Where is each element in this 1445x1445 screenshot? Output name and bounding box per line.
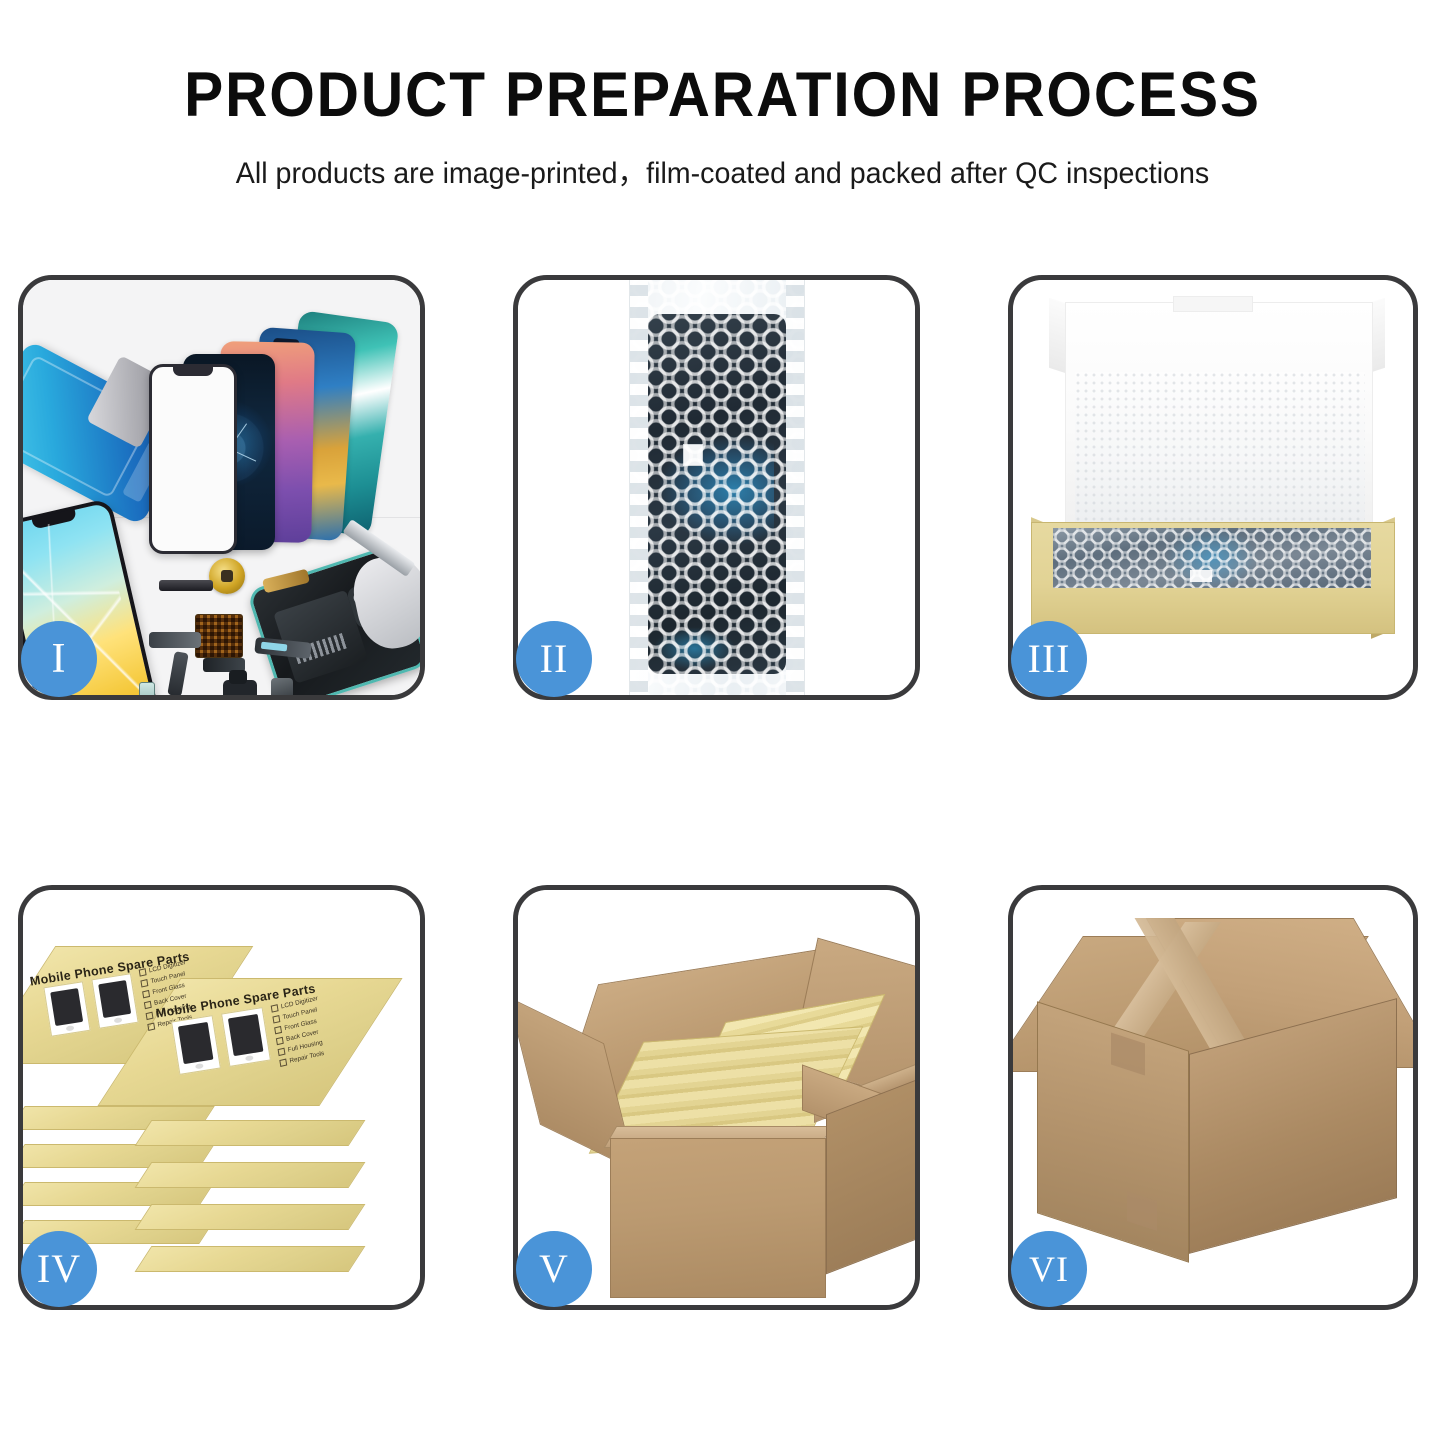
box-window-back-1 [43, 981, 90, 1037]
step-panel-6[interactable]: VI [1008, 885, 1418, 1310]
stacked-box-r3 [143, 1162, 357, 1188]
content-label-icon [1190, 570, 1212, 582]
stacked-box-r4 [143, 1204, 357, 1230]
front-glass-panel-icon [149, 364, 237, 554]
step-panel-4[interactable]: Mobile Phone Spare Parts LCD Digitizer T… [18, 885, 425, 1310]
box-window-front-2 [221, 1007, 271, 1067]
step-badge-1: I [21, 621, 97, 697]
small-module-icon [271, 678, 293, 695]
carton-front-face [610, 1138, 826, 1298]
page-title: PRODUCT PREPARATION PROCESS [51, 62, 1395, 128]
screen-thumbnail [98, 980, 131, 1018]
notch-icon [173, 367, 213, 376]
gold-speaker-icon [209, 558, 245, 594]
step-badge-4: IV [21, 1231, 97, 1307]
step-panel-2[interactable]: II [513, 275, 920, 700]
step-badge-3: III [1011, 621, 1087, 697]
boxed-screen-icon [1053, 528, 1371, 588]
page-subtitle: All products are image-printed，film-coat… [22, 150, 1424, 192]
bubble-bag-icon [629, 280, 805, 695]
box-top [135, 1162, 366, 1188]
screen-thumbnail [228, 1014, 264, 1056]
sim-tray-icon [139, 682, 155, 695]
foam-insert-icon [1075, 372, 1365, 528]
box-checklist-front: LCD Digitizer Touch Panel Front Glass Ba… [270, 993, 327, 1069]
bag-seal-right [786, 280, 804, 695]
process-steps-grid: I II [18, 275, 1421, 1310]
bubble-wrap-texture [630, 280, 804, 695]
step-badge-5: V [516, 1231, 592, 1307]
step-panel-1[interactable]: I [18, 275, 425, 700]
stacked-box-r5 [143, 1246, 357, 1272]
step-badge-2: II [516, 621, 592, 697]
flex-cable-grey-icon [149, 632, 201, 648]
content-blue-reflection [1167, 528, 1256, 588]
box-window-back-2 [91, 973, 138, 1029]
stacked-box-r2 [143, 1120, 357, 1146]
screen-thumbnail [50, 988, 83, 1026]
box-window-front-1 [171, 1015, 221, 1075]
earpiece-bar-icon [159, 580, 213, 591]
box-top [135, 1120, 366, 1146]
mailer-lid-tab [1173, 296, 1253, 312]
step-badge-6: VI [1011, 1231, 1087, 1307]
screen-thumbnail [178, 1022, 214, 1064]
camera-lens-icon [223, 680, 257, 695]
ic-chip-icon [195, 614, 243, 658]
page-header: PRODUCT PREPARATION PROCESS All products… [0, 0, 1445, 192]
box-top [135, 1204, 366, 1230]
step-panel-5[interactable]: V [513, 885, 920, 1310]
box-top [135, 1246, 366, 1272]
bag-seal-left [630, 280, 648, 695]
step-panel-3[interactable]: III [1008, 275, 1418, 700]
